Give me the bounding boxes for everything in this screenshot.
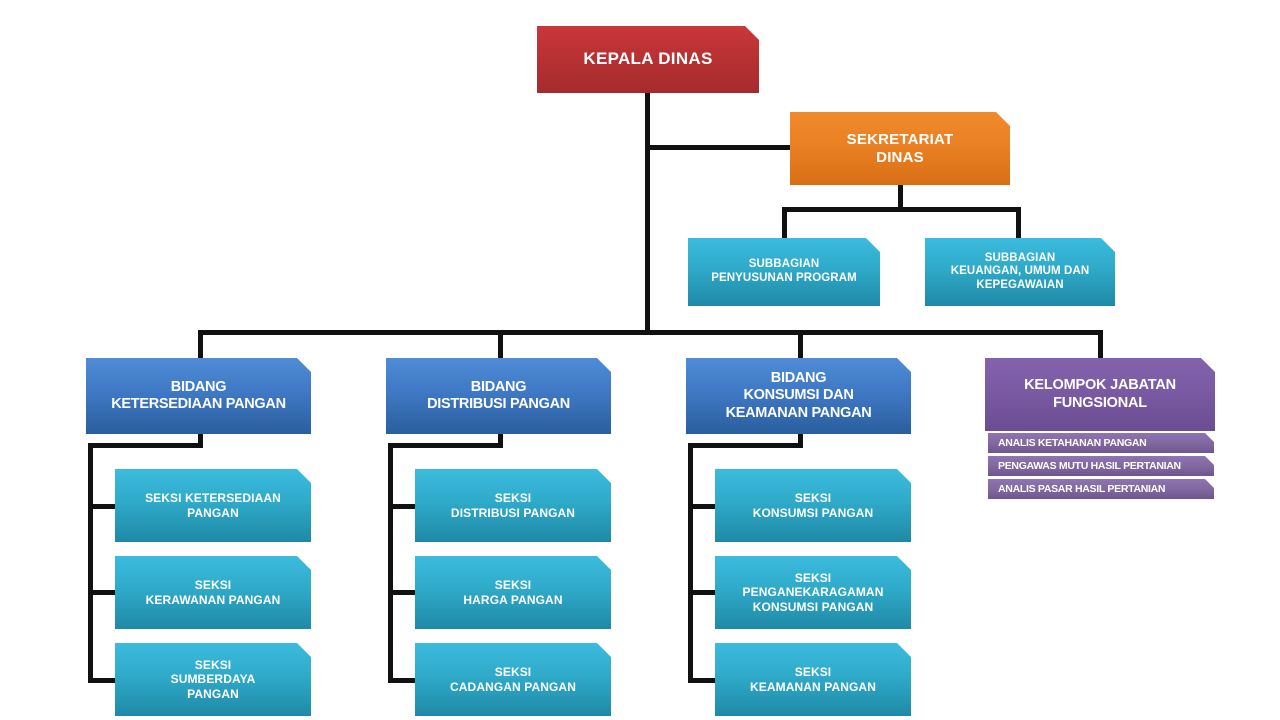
node-subbagian-penyusunan-program[interactable]: SUBBAGIAN PENYUSUNAN PROGRAM	[688, 238, 880, 306]
node-label: SUBBAGIAN PENYUSUNAN PROGRAM	[701, 256, 867, 287]
node-analis-ketahanan-pangan[interactable]: ANALIS KETAHANAN PANGAN	[988, 433, 1214, 453]
connector-drop-bidang-2	[498, 330, 503, 360]
node-label: SUBBAGIAN KEUANGAN, UMUM DAN KEPEGAWAIAN	[941, 250, 1100, 295]
node-bidang-distribusi-pangan[interactable]: BIDANG DISTRIBUSI PANGAN	[386, 358, 611, 434]
node-seksi-keamanan-pangan[interactable]: SEKSI KEAMANAN PANGAN	[715, 643, 911, 716]
connector-secretariat-bus	[782, 207, 1021, 212]
connector-drop-bidang-3	[798, 330, 803, 360]
node-seksi-kerawanan-pangan[interactable]: SEKSI KERAWANAN PANGAN	[115, 556, 311, 629]
node-label: ANALIS KETAHANAN PANGAN	[988, 435, 1156, 451]
node-label: SEKSI KETERSEDIAAN PANGAN	[135, 489, 291, 521]
node-kelompok-jabatan-fungsional[interactable]: KELOMPOK JABATAN FUNGSIONAL	[985, 358, 1215, 431]
node-seksi-ketersediaan-pangan[interactable]: SEKSI KETERSEDIAAN PANGAN	[115, 469, 311, 542]
node-label: KEPALA DINAS	[573, 47, 722, 71]
node-label: SEKRETARIAT DINAS	[837, 129, 964, 168]
node-label: SEKSI DISTRIBUSI PANGAN	[441, 489, 585, 521]
node-label: SEKSI CADANGAN PANGAN	[440, 663, 586, 695]
node-seksi-harga-pangan[interactable]: SEKSI HARGA PANGAN	[415, 556, 611, 629]
connector-spine-col-2-h	[388, 443, 503, 448]
org-chart: KEPALA DINAS SEKRETARIAT DINAS SUBBAGIAN…	[0, 0, 1280, 720]
node-label: SEKSI KEAMANAN PANGAN	[740, 663, 886, 695]
connector-drop-fungsional	[1098, 330, 1103, 360]
node-kepala-dinas[interactable]: KEPALA DINAS	[537, 26, 759, 93]
connector-spine-col-3-h	[688, 443, 803, 448]
connector-spine-col-1-h	[88, 443, 203, 448]
node-seksi-penganekaragaman-konsumsi-pangan[interactable]: SEKSI PENGANEKARAGAMAN KONSUMSI PANGAN	[715, 556, 911, 629]
connector-spine-col-1-v	[88, 443, 93, 683]
node-pengawas-mutu-hasil-pertanian[interactable]: PENGAWAS MUTU HASIL PERTANIAN	[988, 456, 1214, 476]
connector-drop-subbagian-1	[782, 207, 787, 239]
connector-spine-col-3-v	[688, 443, 693, 683]
node-label: SEKSI SUMBERDAYA PANGAN	[161, 656, 266, 702]
connector-head-trunk	[645, 93, 650, 335]
connector-drop-subbagian-2	[1016, 207, 1021, 239]
node-label: SEKSI KERAWANAN PANGAN	[136, 576, 291, 608]
node-label: PENGAWAS MUTU HASIL PERTANIAN	[988, 458, 1191, 474]
connector-main-bus	[198, 330, 1103, 335]
node-sekretariat-dinas[interactable]: SEKRETARIAT DINAS	[790, 112, 1010, 185]
node-bidang-konsumsi-keamanan-pangan[interactable]: BIDANG KONSUMSI DAN KEAMANAN PANGAN	[686, 358, 911, 434]
node-seksi-distribusi-pangan[interactable]: SEKSI DISTRIBUSI PANGAN	[415, 469, 611, 542]
node-label: SEKSI KONSUMSI PANGAN	[743, 489, 884, 521]
node-label: BIDANG KETERSEDIAAN PANGAN	[101, 377, 296, 415]
node-label: SEKSI HARGA PANGAN	[453, 576, 572, 608]
node-analis-pasar-hasil-pertanian[interactable]: ANALIS PASAR HASIL PERTANIAN	[988, 479, 1214, 499]
node-label: BIDANG DISTRIBUSI PANGAN	[417, 377, 580, 415]
node-label: ANALIS PASAR HASIL PERTANIAN	[988, 481, 1175, 497]
connector-drop-bidang-1	[198, 330, 203, 360]
node-label: KELOMPOK JABATAN FUNGSIONAL	[1014, 375, 1186, 413]
connector-head-to-secretariat	[645, 145, 793, 150]
connector-spine-col-2-v	[388, 443, 393, 683]
node-label: BIDANG KONSUMSI DAN KEAMANAN PANGAN	[716, 368, 882, 423]
node-subbagian-keuangan-umum-kepegawaian[interactable]: SUBBAGIAN KEUANGAN, UMUM DAN KEPEGAWAIAN	[925, 238, 1115, 306]
node-bidang-ketersediaan-pangan[interactable]: BIDANG KETERSEDIAAN PANGAN	[86, 358, 311, 434]
node-seksi-sumberdaya-pangan[interactable]: SEKSI SUMBERDAYA PANGAN	[115, 643, 311, 716]
node-seksi-konsumsi-pangan[interactable]: SEKSI KONSUMSI PANGAN	[715, 469, 911, 542]
node-label: SEKSI PENGANEKARAGAMAN KONSUMSI PANGAN	[733, 569, 894, 615]
node-seksi-cadangan-pangan[interactable]: SEKSI CADANGAN PANGAN	[415, 643, 611, 716]
